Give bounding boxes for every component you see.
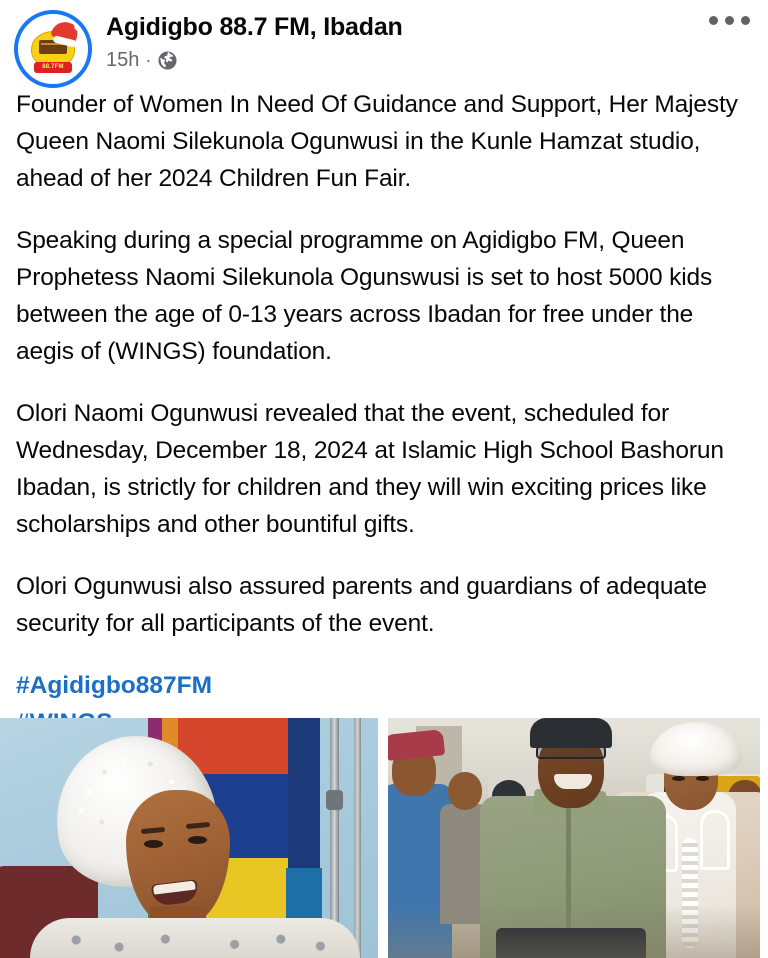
post-header-text: Agidigbo 88.7 FM, Ibadan 15h ·: [106, 8, 754, 72]
menu-dot: [741, 16, 750, 25]
meta-separator: ·: [145, 48, 151, 72]
post-timestamp[interactable]: 15h: [106, 48, 139, 72]
globe-public-icon[interactable]: [157, 50, 178, 71]
wall-panel: [288, 718, 320, 868]
post-photo-left[interactable]: [0, 718, 378, 958]
post-paragraph: Olori Naomi Ogunwusi revealed that the e…: [16, 395, 752, 543]
menu-dot: [709, 16, 718, 25]
eye: [696, 776, 709, 781]
studio-mic-stand: [354, 718, 361, 958]
post-body: Founder of Women In Need Of Guidance and…: [0, 86, 768, 741]
post-photo-right[interactable]: [388, 718, 760, 958]
logo-band: 88.7FM: [34, 62, 72, 73]
avatar-logo: 88.7FM: [27, 23, 79, 75]
dress-embellishments: [30, 918, 360, 958]
road-shadow: [388, 904, 760, 958]
page-name[interactable]: Agidigbo 88.7 FM, Ibadan: [106, 12, 754, 42]
photo-gutter: [378, 718, 388, 958]
avatar[interactable]: 88.7FM: [14, 10, 92, 88]
studio-mic-stand-knob: [326, 790, 343, 810]
menu-dot: [725, 16, 734, 25]
logo-band-text: 88.7FM: [34, 63, 72, 72]
post-paragraph: Founder of Women In Need Of Guidance and…: [16, 86, 752, 197]
post-photo-grid: [0, 718, 768, 958]
post-meta: 15h ·: [106, 48, 754, 72]
baseball-cap: [530, 718, 612, 748]
tunic-embroidery: [700, 810, 730, 870]
three-dots-menu-icon[interactable]: [709, 16, 750, 25]
bystander-head: [448, 772, 482, 810]
eye: [188, 836, 207, 844]
beaded-white-dress: [30, 918, 360, 958]
eye: [144, 840, 163, 848]
post-paragraph: Olori Ogunwusi also assured parents and …: [16, 568, 752, 642]
smiling-mouth: [554, 774, 592, 789]
post-header: 88.7FM Agidigbo 88.7 FM, Ibadan 15h ·: [0, 0, 768, 86]
post-paragraph: Speaking during a special programme on A…: [16, 222, 752, 370]
hashtag-link[interactable]: #Agidigbo887FM: [16, 667, 752, 704]
eye: [672, 776, 685, 781]
